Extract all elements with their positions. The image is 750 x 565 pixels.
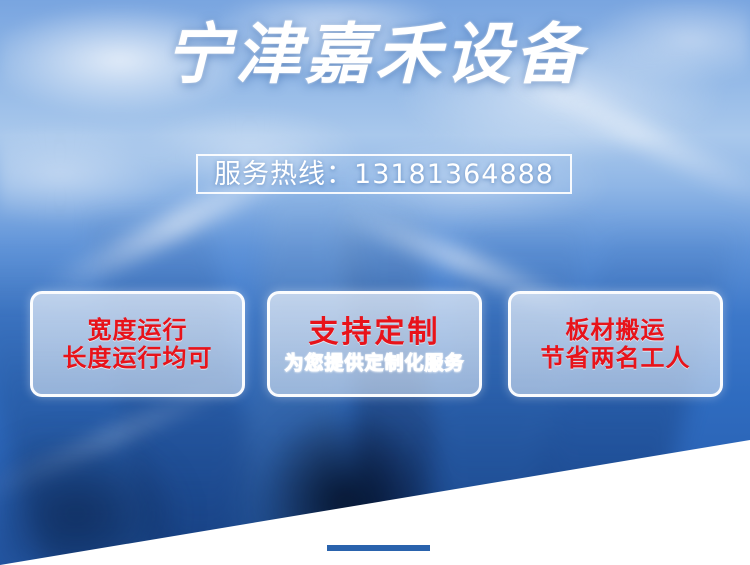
feature-card-line-2: 节省两名工人 xyxy=(541,344,691,372)
promo-banner: 宁津嘉禾设备 服务热线：13181364888 宽度运行 长度运行均可 支持定制… xyxy=(0,0,750,565)
feature-card-line-2: 长度运行均可 xyxy=(63,344,213,372)
feature-card-line-2: 为您提供定制化服务 xyxy=(284,354,464,373)
feature-card-labor-saving: 板材搬运 节省两名工人 xyxy=(508,291,723,397)
page-title: 宁津嘉禾设备 xyxy=(0,22,750,88)
feature-card-customization: 支持定制 为您提供定制化服务 xyxy=(267,291,482,397)
hotline-box: 服务热线：13181364888 xyxy=(196,154,572,194)
feature-card-list: 宽度运行 长度运行均可 支持定制 为您提供定制化服务 板材搬运 节省两名工人 xyxy=(0,291,750,397)
accent-bar xyxy=(327,545,430,551)
feature-card-width-length: 宽度运行 长度运行均可 xyxy=(30,291,245,397)
feature-card-line-1: 板材搬运 xyxy=(566,316,666,344)
feature-card-line-1: 支持定制 xyxy=(309,315,441,350)
hotline-text: 服务热线：13181364888 xyxy=(214,161,554,188)
feature-card-line-1: 宽度运行 xyxy=(88,316,188,344)
